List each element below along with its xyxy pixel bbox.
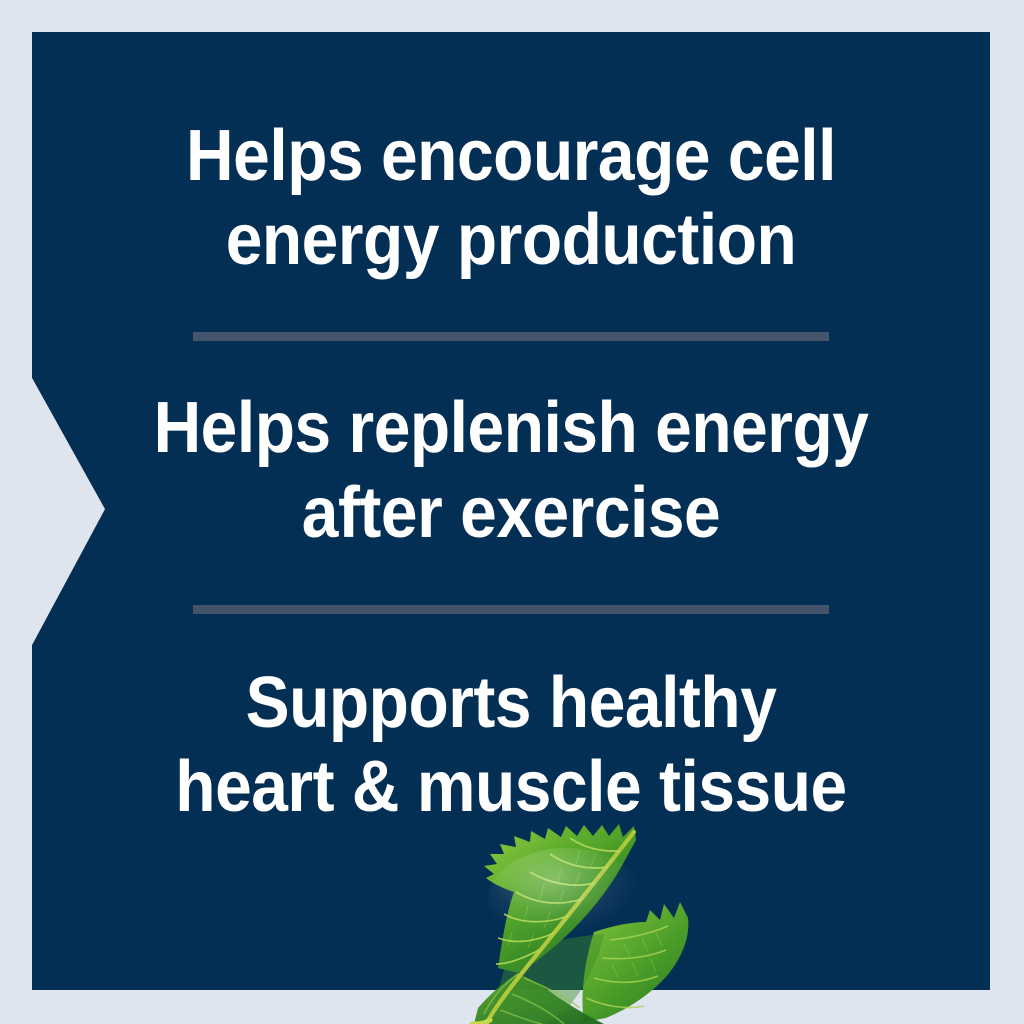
benefit-line-1: Supports healthy [97, 661, 926, 745]
benefit-item-heart-muscle-tissue: Supports healthy heart & muscle tissue [73, 661, 950, 829]
benefit-line-2: heart & muscle tissue [97, 745, 926, 829]
benefit-line-2: energy production [97, 198, 926, 282]
benefit-item-cell-energy-production: Helps encourage cell energy production [73, 114, 950, 282]
benefits-list: Helps encourage cell energy production H… [32, 32, 990, 990]
divider-2 [193, 605, 829, 614]
divider-1 [193, 332, 829, 341]
benefit-line-1: Helps encourage cell [97, 114, 926, 198]
benefit-line-1: Helps replenish energy [97, 386, 926, 470]
benefit-item-replenish-energy: Helps replenish energy after exercise [73, 386, 950, 554]
benefit-line-2: after exercise [97, 471, 926, 555]
benefits-card: Helps encourage cell energy production H… [0, 0, 1024, 1024]
